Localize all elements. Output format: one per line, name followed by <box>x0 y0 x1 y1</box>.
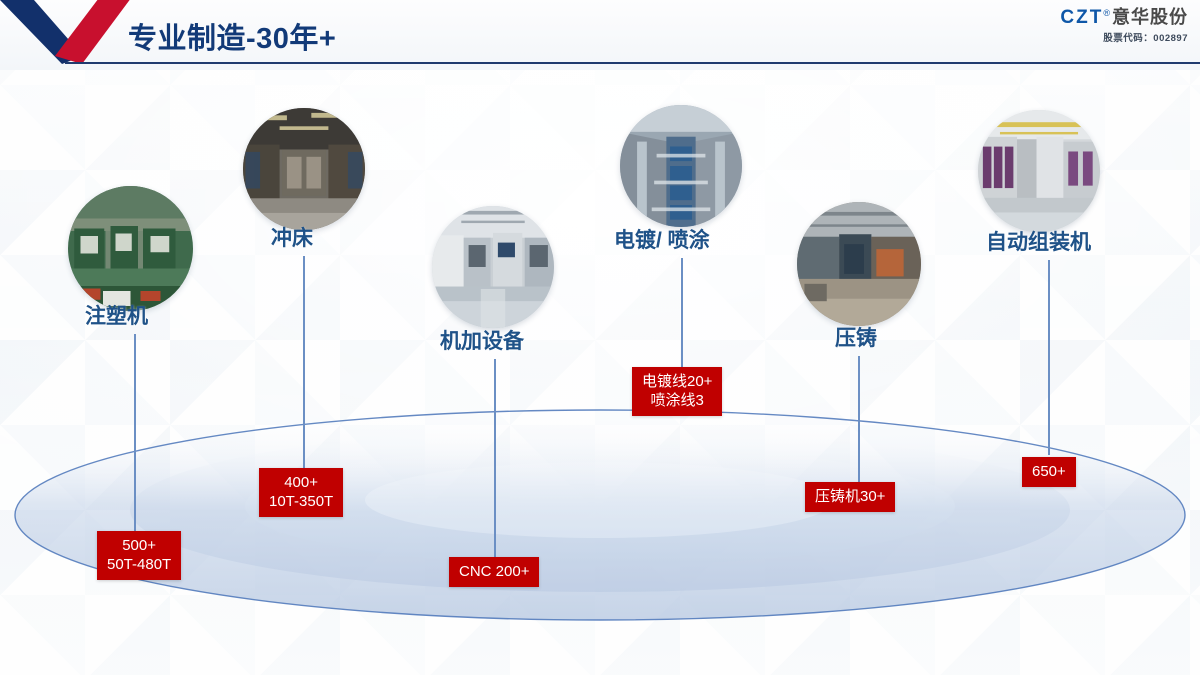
badge-line: 50T-480T <box>107 555 171 574</box>
plating-line-photo <box>620 105 742 227</box>
badge-line: 压铸机30+ <box>815 487 885 506</box>
die-casting-workshop-photo <box>797 202 921 326</box>
slide-header: 专业制造-30年+ CZT ® 意华股份 股票代码：002897 <box>0 0 1200 70</box>
registered-mark-icon: ® <box>1103 9 1110 18</box>
badge-plating-coating: 电镀线20+ 喷涂线3 <box>632 367 722 416</box>
connector-line-die-casting <box>858 356 860 483</box>
connector-line-injection-molding <box>134 334 136 534</box>
badge-line: 喷涂线3 <box>642 391 712 410</box>
badge-punch-press: 400+ 10T-350T <box>259 468 343 517</box>
badge-machining: CNC 200+ <box>449 557 539 587</box>
badge-line: 10T-350T <box>269 492 333 511</box>
badge-auto-assembly: 650+ <box>1022 457 1076 487</box>
node-label-die-casting: 压铸 <box>835 322 877 352</box>
company-logo: CZT ® 意华股份 股票代码：002897 <box>1060 8 1188 44</box>
badge-injection-molding: 500+ 50T-480T <box>97 531 181 580</box>
node-label-punch-press: 冲床 <box>271 222 313 252</box>
badge-line: 400+ <box>269 473 333 492</box>
connector-line-punch-press <box>303 256 305 470</box>
connector-line-auto-assembly <box>1048 260 1050 455</box>
node-label-machining: 机加设备 <box>440 325 524 355</box>
punch-press-workshop-photo <box>243 108 365 230</box>
badge-line: CNC 200+ <box>459 562 529 581</box>
connector-line-plating-coating <box>681 258 683 368</box>
node-label-auto-assembly: 自动组装机 <box>986 226 1091 256</box>
logo-latin-text: CZT <box>1060 8 1103 27</box>
badge-line: 电镀线20+ <box>642 372 712 391</box>
node-label-plating-coating: 电镀/ 喷涂 <box>614 224 710 254</box>
header-divider <box>65 62 1200 64</box>
checkmark-chevron-icon <box>0 0 140 66</box>
slide-canvas: 专业制造-30年+ CZT ® 意华股份 股票代码：002897 <box>0 0 1200 675</box>
logo-chinese-text: 意华股份 <box>1112 8 1188 26</box>
badge-die-casting: 压铸机30+ <box>805 482 895 512</box>
logo-stock-code: 股票代码：002897 <box>1060 30 1188 44</box>
auto-assembly-workshop-photo <box>978 110 1100 232</box>
badge-line: 650+ <box>1032 462 1066 481</box>
badge-line: 500+ <box>107 536 171 555</box>
connector-line-machining <box>494 359 496 559</box>
page-title: 专业制造-30年+ <box>128 15 336 57</box>
node-label-injection-molding: 注塑机 <box>85 300 148 330</box>
machining-workshop-photo <box>432 206 554 328</box>
injection-molding-workshop-photo <box>68 186 193 311</box>
